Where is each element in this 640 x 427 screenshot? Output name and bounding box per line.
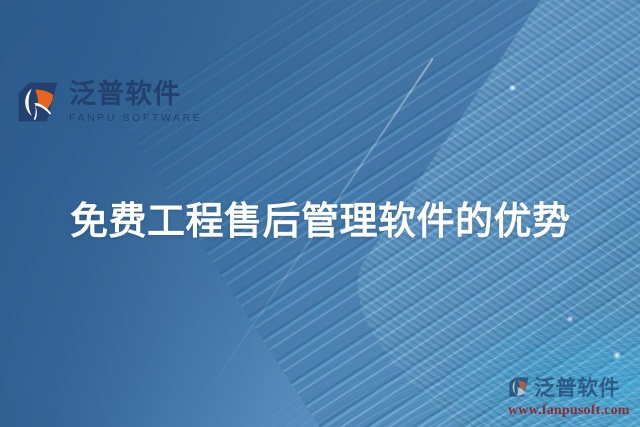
brand-name-en: FANPU SOFTWARE: [69, 113, 202, 124]
brand-text: 泛普软件 FANPU SOFTWARE: [69, 81, 202, 124]
watermark: 泛普软件 www.fanpusoft.com: [508, 372, 636, 419]
banner-headline: 免费工程售后管理软件的优势: [70, 198, 571, 244]
watermark-fanpu-logo-icon: [508, 376, 530, 398]
watermark-brand-name: 泛普软件: [534, 372, 620, 402]
watermark-brand-row: 泛普软件: [508, 372, 620, 402]
fanpu-logo-icon: [16, 80, 60, 124]
watermark-url: www.fanpusoft.com: [508, 403, 630, 419]
promo-banner: 泛普软件 FANPU SOFTWARE 免费工程售后管理软件的优势 泛普软件 w…: [0, 0, 640, 427]
brand-logo[interactable]: 泛普软件 FANPU SOFTWARE: [16, 80, 202, 124]
brand-name-cn: 泛普软件: [69, 81, 202, 108]
